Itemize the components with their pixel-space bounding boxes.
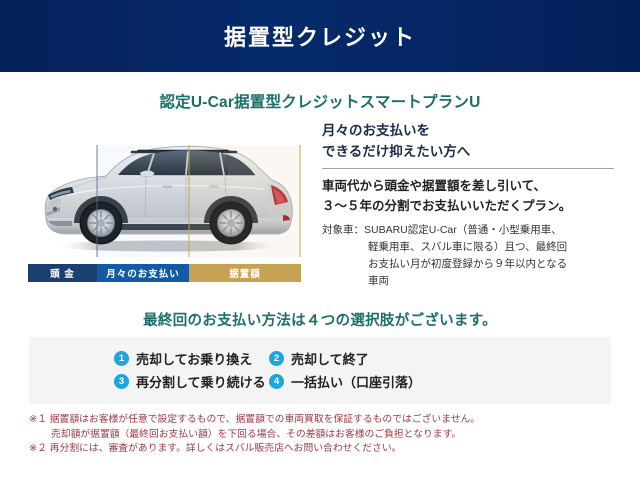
lead-line-2: できるだけ抑えたい方へ: [322, 142, 614, 163]
car-cost-breakdown-panel: 頭 金 月々のお支払い 据置額: [28, 123, 301, 283]
target-line-4: 車両: [322, 273, 622, 290]
desc-line-1: 車両代から頭金や据置額を差し引いて、: [322, 176, 622, 196]
desc-line-2: ３～５年の分割でお支払いいただくプラン。: [322, 196, 622, 216]
eligible-vehicles-note: 対象車：SUBARU認定U-Car（普通・小型乗用車、 軽乗用車、スバル車に限る…: [322, 222, 622, 290]
target-line-2: 軽乗用車、スバル車に限る）且つ、最終回: [322, 239, 622, 256]
options-heading: 最終回のお支払い方法は４つの選択肢がございます。: [143, 313, 497, 329]
subtitle-row: 認定U-Car据置型クレジットスマートプランU: [0, 90, 640, 112]
options-heading-row: 最終回のお支払い方法は４つの選択肢がございます。: [0, 309, 640, 330]
main-content: 頭 金 月々のお支払い 据置額 月々のお支払いを できるだけ抑えたい方へ 車両代…: [0, 121, 640, 301]
segment-down-payment: 頭 金: [28, 264, 97, 282]
subaru-forester-side-profile-image: [28, 123, 301, 263]
options-row-1: 1 売却してお乗り換え 2 売却して終了: [29, 347, 611, 370]
option-label-2: 売却して終了: [291, 349, 369, 368]
page-header-banner: 据置型クレジット: [0, 0, 640, 72]
option-label-1: 売却してお乗り換え: [136, 349, 252, 368]
segment-monthly-payment: 月々のお支払い: [97, 264, 189, 282]
option-item-3[interactable]: 3 再分割して乗り続ける: [29, 372, 269, 391]
lead-line-1: 月々のお支払いを: [322, 121, 614, 142]
target-line-1: 対象車：SUBARU認定U-Car（普通・小型乗用車、: [322, 222, 622, 239]
option-label-3: 再分割して乗り続ける: [136, 372, 266, 391]
option-item-4[interactable]: 4 一括払い（口座引落）: [269, 372, 421, 391]
option-number-badge-1: 1: [114, 351, 129, 366]
target-line-3: お支払い月が初度登録から９年以内となる: [322, 256, 622, 273]
segment-deferred-amount: 据置額: [189, 264, 301, 282]
footnotes: ※１ 据置額はお客様が任意で設定するもので、据置額での車両買取を保証するものでは…: [29, 413, 611, 457]
option-label-4: 一括払い（口座引落）: [291, 372, 421, 391]
options-row-2: 3 再分割して乗り続ける 4 一括払い（口座引落）: [29, 370, 611, 393]
plan-description: 車両代から頭金や据置額を差し引いて、 ３～５年の分割でお支払いいただくプラン。: [322, 176, 622, 217]
plan-subtitle: 認定U-Car据置型クレジットスマートプランU: [159, 94, 480, 111]
footnote-1-line-1: ※１ 据置額はお客様が任意で設定するもので、据置額での車両買取を保証するものでは…: [29, 413, 611, 428]
option-number-badge-4: 4: [269, 374, 284, 389]
cost-segment-bar: 頭 金 月々のお支払い 据置額: [28, 264, 301, 282]
option-number-badge-3: 3: [114, 374, 129, 389]
option-item-1[interactable]: 1 売却してお乗り換え: [29, 349, 269, 368]
footnote-2: ※２ 再分割には、審査があります。詳しくはスバル販売店へお問い合わせください。: [29, 442, 611, 457]
final-payment-options-panel: 1 売却してお乗り換え 2 売却して終了 3 再分割して乗り続ける 4 一括払い…: [29, 337, 611, 404]
page-title: 据置型クレジット: [224, 20, 416, 52]
footnote-1-line-2: 売却額が据置額（最終回お支払い額）を下回る場合、その差額はお客様のご負担となりま…: [29, 428, 611, 443]
option-item-2[interactable]: 2 売却して終了: [269, 349, 369, 368]
lead-headline: 月々のお支払いを できるだけ抑えたい方へ: [322, 121, 614, 169]
plan-description-panel: 月々のお支払いを できるだけ抑えたい方へ 車両代から頭金や据置額を差し引いて、 …: [322, 121, 622, 290]
option-number-badge-2: 2: [269, 351, 284, 366]
